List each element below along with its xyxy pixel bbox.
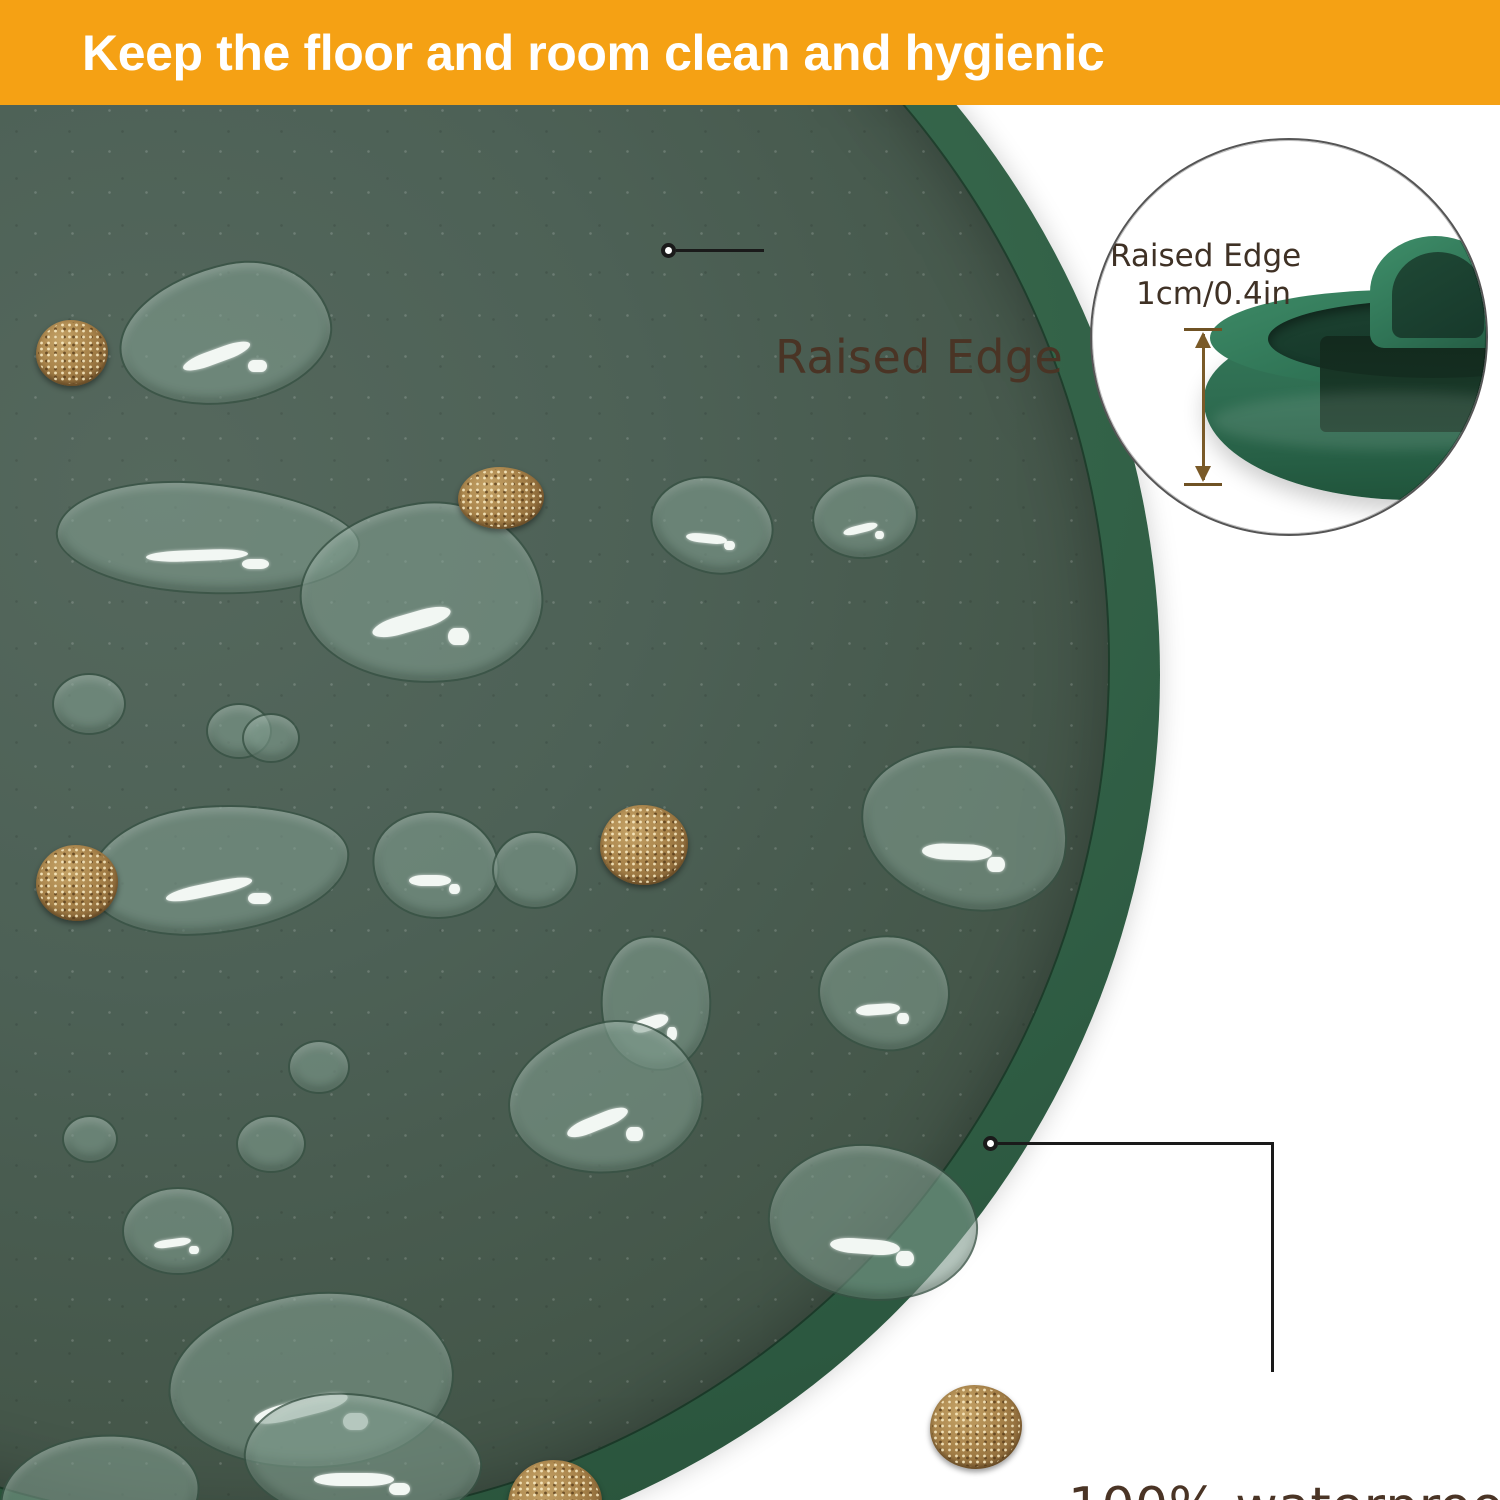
droplet-highlight (314, 1473, 394, 1486)
kibble-piece (36, 845, 118, 921)
kibble-piece (600, 805, 688, 885)
water-droplet (288, 1040, 350, 1094)
water-droplet (236, 1115, 306, 1173)
raised-edge-label: Raised Edge (775, 330, 1063, 384)
droplet-highlight (875, 531, 884, 539)
water-droplet (122, 1187, 234, 1275)
kibble-piece (458, 467, 544, 529)
droplet-highlight (724, 541, 735, 550)
inset-border-ring (1092, 140, 1486, 534)
droplet-highlight (987, 857, 1005, 872)
droplet-highlight (626, 1127, 643, 1141)
droplet-highlight (897, 1013, 908, 1024)
raised-edge-inset: Raised Edge 1cm/0.4in (1090, 138, 1488, 536)
droplet-highlight (242, 559, 269, 569)
droplet-highlight (448, 628, 469, 645)
banner-title: Keep the floor and room clean and hygien… (82, 28, 1104, 78)
droplet-highlight (896, 1251, 914, 1265)
droplet-highlight (248, 893, 271, 905)
product-photo: Raised Edge 100% waterproof Raised Edge … (0, 105, 1500, 1500)
waterproof-label: 100% waterproof (1068, 1477, 1500, 1500)
droplet-highlight (189, 1246, 199, 1254)
kibble-piece (36, 320, 108, 386)
droplet-highlight (409, 875, 451, 885)
kibble-piece (930, 1385, 1022, 1469)
droplet-highlight (449, 884, 460, 894)
raised-edge-marker-dot (661, 243, 676, 258)
raised-edge-leader-line (676, 249, 764, 252)
droplet-highlight (389, 1483, 410, 1495)
waterproof-leader-vertical (1271, 1142, 1274, 1372)
water-droplet (242, 713, 300, 763)
waterproof-marker-dot (983, 1136, 998, 1151)
waterproof-leader-horizontal (998, 1142, 1274, 1145)
droplet-highlight (248, 360, 267, 373)
water-droplet (62, 1115, 118, 1163)
water-droplet (492, 831, 578, 909)
product-feature-image: Keep the floor and room clean and hygien… (0, 0, 1500, 1500)
water-droplet (52, 673, 126, 735)
header-banner: Keep the floor and room clean and hygien… (0, 0, 1500, 105)
